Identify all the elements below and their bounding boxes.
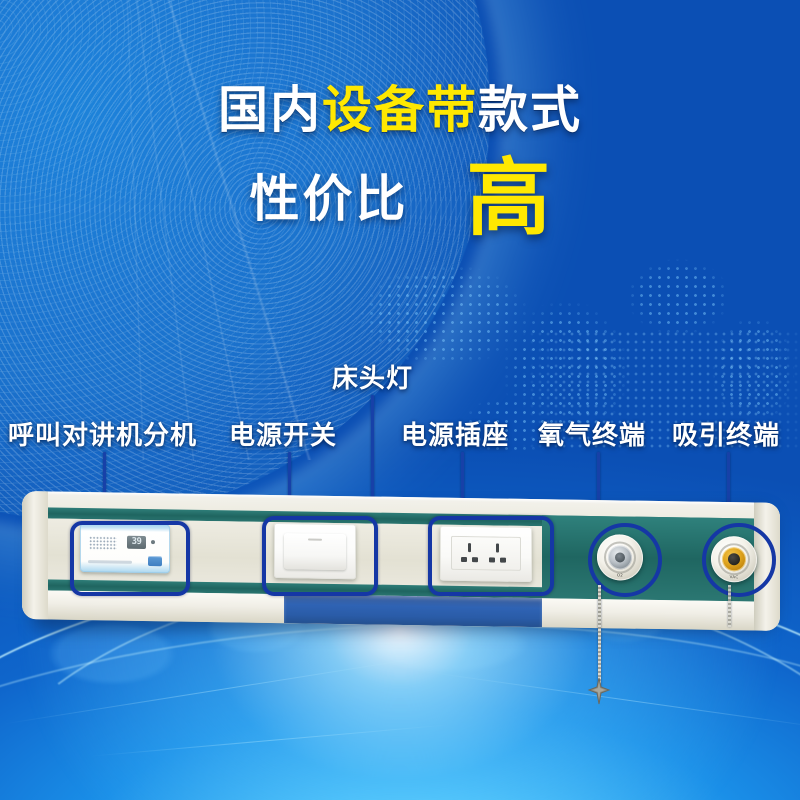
headline-emphasis: 高 [466,159,550,239]
highlight-box-intercom [70,521,190,596]
headline-part-2: 设备带 [322,81,478,139]
callout-label-intercom: 呼叫对讲机分机 [8,415,197,452]
callout-label-bedlamp: 床头灯 [332,358,413,395]
promo-banner: 国内设备带款式 性价比 高 呼叫对讲机分机 电源开关 床头灯 电源插座 氧气终端… [0,0,800,800]
headline-line-1: 国内设备带款式 [0,84,800,137]
headline-line-2: 性价比 高 [0,159,800,239]
highlight-circle-suction [702,523,776,597]
suction-pull-cord[interactable] [728,585,731,627]
cord-pendant-icon [586,676,612,706]
headline-subtext: 性价比 [249,174,408,224]
callout-label-suction: 吸引终端 [672,415,780,452]
medical-bed-head-unit: 39 [22,497,782,632]
highlight-box-switch [262,516,378,596]
panel-end-cap-left [22,491,48,619]
callout-label-oxygen: 氧气终端 [538,415,646,452]
callout-label-socket: 电源插座 [401,415,509,452]
bed-lamp-diffuser[interactable] [284,594,542,627]
oxygen-pull-cord[interactable] [598,585,601,689]
headline-block: 国内设备带款式 性价比 高 [0,84,800,239]
callout-label-switch: 电源开关 [229,415,337,452]
headline-part-1: 国内 [218,81,322,139]
headline-part-3: 款式 [478,81,582,139]
highlight-box-socket [428,516,554,596]
